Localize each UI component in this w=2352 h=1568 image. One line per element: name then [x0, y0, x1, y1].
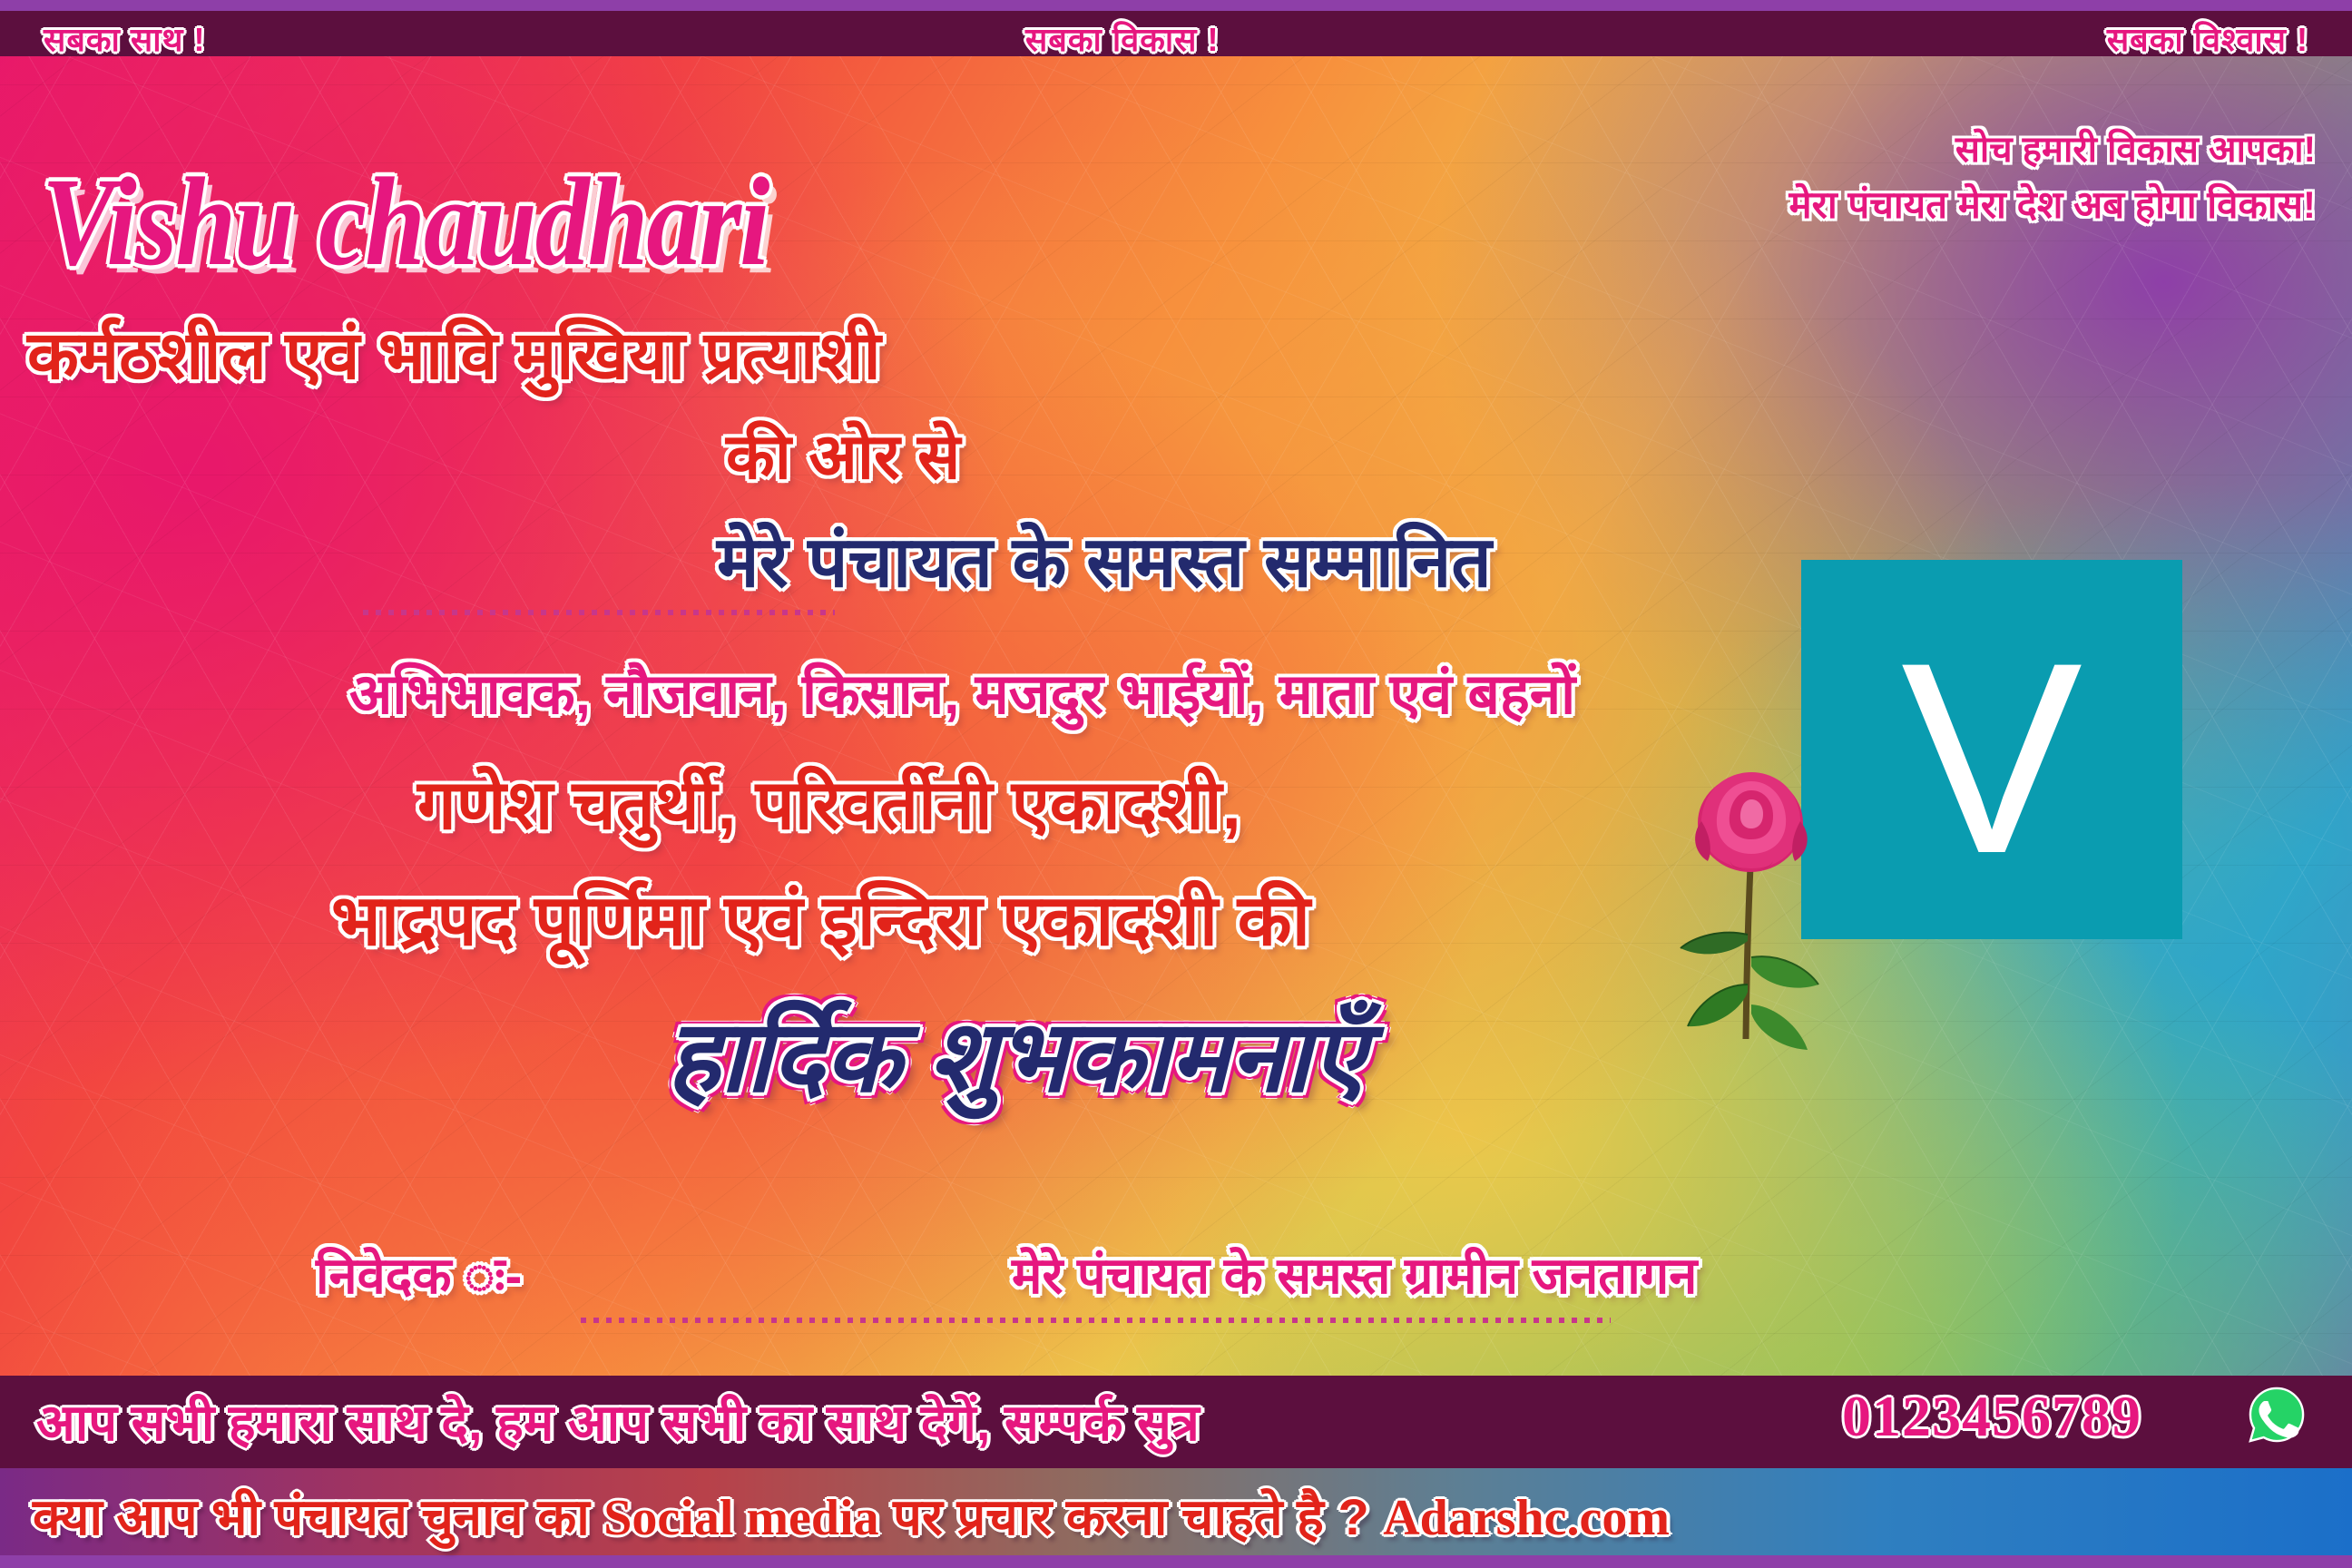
festival-line-2: भाद्रपद पूर्णिमा एवं इन्दिरा एकादशी की — [331, 885, 1310, 955]
festival-line-1: गणेश चतुर्थी, परिवर्तीनी एकादशी, — [417, 771, 1241, 840]
candidate-designation: कर्मठशील एवं भावि मुखिया प्रत्याशी — [27, 322, 881, 389]
rose-flower-icon — [1657, 767, 1847, 1057]
decorative-dotted-rule-top — [363, 610, 835, 615]
from-label: की ओर से — [726, 425, 960, 488]
promo-website-link[interactable]: Adarshc.com — [1383, 1490, 1670, 1546]
election-greeting-poster: सबका साथ ! सबका विकास ! सबका विश्वास ! स… — [0, 0, 2352, 1568]
sender-label: निवेदक ः- — [316, 1250, 522, 1301]
footer-promo-text[interactable]: क्या आप भी पंचायत चुनाव का Social media … — [33, 1481, 1670, 1550]
decorative-dotted-rule-bottom — [581, 1318, 1611, 1323]
tagline-primary: सोच हमारी विकास आपका! — [1789, 127, 2316, 172]
promo-mid: पर प्रचार करना चाहते है ? — [879, 1488, 1384, 1545]
slogan-sabka-saath: सबका साथ ! — [44, 16, 206, 61]
sender-value: मेरे पंचायत के समस्त ग्रामीन जनतागन — [1012, 1250, 1697, 1301]
addressee-line-2: अभिभावक, नौजवान, किसान, मजदुर भाईयों, मा… — [349, 667, 1575, 723]
slogan-sabka-vikas: सबका विकास ! — [1025, 16, 1220, 61]
candidate-name: Vishu chaudhari — [42, 159, 768, 285]
footer-appeal-text: आप सभी हमारा साथ दे, हम आप सभी का साथ दे… — [36, 1387, 1200, 1455]
whatsapp-icon[interactable] — [2249, 1387, 2305, 1443]
tagline-group: सोच हमारी विकास आपका! मेरा पंचायत मेरा द… — [1789, 127, 2316, 230]
addressee-line-1: मेरे पंचायत के समस्त सम्मानित — [717, 526, 1492, 597]
candidate-photo-placeholder[interactable]: V — [1801, 560, 2182, 939]
promo-social-media-label: Social media — [603, 1490, 878, 1546]
greeting-headline: हार्दिक शुभकामनाएँ — [667, 1007, 1366, 1107]
slogan-sabka-vishwas: सबका विश्वास ! — [2107, 16, 2308, 61]
tagline-secondary: मेरा पंचायत मेरा देश अब होगा विकास! — [1789, 181, 2316, 230]
footer-phone-number[interactable]: 0123456789 — [1842, 1383, 2141, 1450]
promo-prefix: क्या आप भी पंचायत चुनाव का — [33, 1488, 603, 1545]
photo-placeholder-letter: V — [1901, 649, 2082, 867]
